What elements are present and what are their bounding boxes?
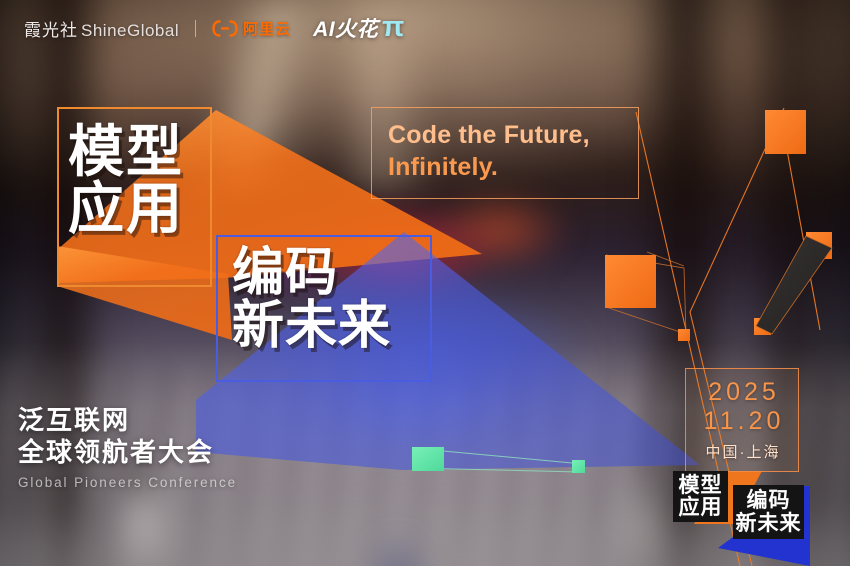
badge-model-line2: 应用: [679, 497, 723, 519]
logo-shineglobal-cn: 霞光社: [24, 16, 78, 41]
conference-name-cn: 泛互联网 全球领航者大会: [18, 405, 237, 468]
hero-subtitle-cn: 编码 新未来: [232, 247, 391, 353]
logo-ai-spark-label: AI火花: [313, 13, 378, 43]
hero-subtitle-cn-line2: 新未来: [232, 300, 391, 353]
badge-model-line1: 模型: [679, 475, 723, 497]
hero-title-cn: 模型 应用: [68, 123, 184, 237]
english-tagline: Code the Future, Infinitely.: [388, 119, 590, 183]
hero-title-cn-line2: 应用: [68, 180, 184, 237]
badge-code-line2: 新未来: [736, 513, 802, 535]
header-divider: [195, 20, 196, 37]
conference-name-block: 泛互联网 全球领航者大会 Global Pioneers Conference: [18, 405, 237, 490]
badge-code-future: 编码 新未来: [733, 485, 804, 539]
logo-shineglobal-en: ShineGlobal: [81, 21, 179, 41]
conference-name-en: Global Pioneers Conference: [18, 475, 237, 490]
conference-name-cn-line1: 泛互联网: [18, 405, 237, 437]
badge-code-line1: 编码: [747, 490, 791, 512]
header-bar: 霞光社 ShineGlobal 阿里云 AI火花 π: [0, 0, 850, 56]
logo-alibaba-cloud-label: 阿里云: [243, 18, 291, 39]
conference-poster: 霞光社 ShineGlobal 阿里云 AI火花 π 模型 应用 编码 新未来: [0, 0, 850, 566]
logo-ai-spark[interactable]: AI火花 π: [313, 13, 405, 43]
badge-model-application: 模型 应用: [673, 471, 728, 522]
english-tagline-line2: Infinitely.: [388, 151, 590, 183]
hero-subtitle-cn-line1: 编码: [232, 247, 391, 300]
english-tagline-line1: Code the Future,: [388, 119, 590, 151]
event-year: 2025: [704, 378, 780, 406]
pi-symbol-icon: π: [382, 16, 405, 39]
hero-title-cn-line1: 模型: [68, 123, 184, 180]
event-date-panel: 2025 11.20 中国·上海: [685, 368, 799, 472]
conference-name-cn-line2: 全球领航者大会: [18, 437, 237, 469]
event-location: 中国·上海: [704, 441, 781, 462]
logo-shineglobal[interactable]: 霞光社 ShineGlobal: [24, 16, 179, 41]
logo-alibaba-cloud[interactable]: 阿里云: [212, 18, 291, 39]
event-month-day: 11.20: [700, 407, 785, 435]
alibaba-cloud-mark-icon: [212, 20, 238, 37]
